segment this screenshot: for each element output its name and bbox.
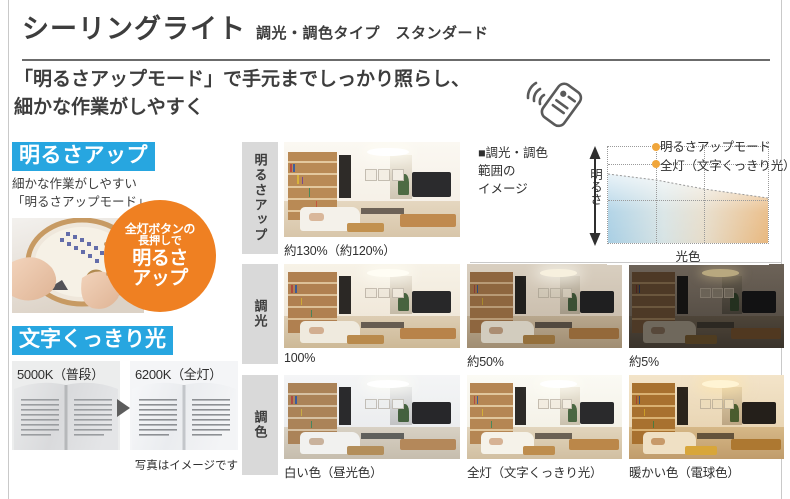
page-subtitle: 調光・調色タイプ スタンダード bbox=[256, 22, 489, 43]
caption-dim-5: 約5% bbox=[629, 351, 659, 370]
living-room-dim-100-photo bbox=[284, 264, 460, 348]
row-label-color-tuning: 調色 bbox=[242, 375, 278, 475]
embroidery-photo-wrap: 全灯ボタンの 長押しで 明るさ アップ bbox=[12, 218, 238, 313]
dimming-color-range-diagram: ■調光・調色 範囲の イメージ 明るさ bbox=[470, 130, 782, 260]
living-room-full-crisp-photo bbox=[467, 375, 622, 459]
circle-line-1: 全灯ボタンの bbox=[125, 223, 195, 236]
callout-full-light-crisp: 全灯（文字くっきり光） bbox=[660, 155, 790, 174]
brightness-up-caption-line-2: 「明るさアップモード」 bbox=[12, 194, 238, 212]
product-catalog-page: シーリングライト 調光・調色タイプ スタンダード 「明るさアップモード」で手元ま… bbox=[0, 0, 790, 499]
badge-crisp-text-light: 文字くっきり光 bbox=[12, 326, 173, 355]
lead-copy: 「明るさアップモード」で手元までしっかり照らし、 細かな作業がしやすく bbox=[14, 66, 484, 121]
left-feature-column: 明るさアップ 細かな作業がしやすい 「明るさアップモード」 bbox=[12, 142, 238, 487]
caption-full-crisp: 全灯（文字くっきり光） bbox=[467, 462, 602, 481]
page-left-border bbox=[0, 0, 9, 499]
row-label-brightness-up-text: 明るさアップ bbox=[254, 153, 267, 243]
circle-line-4: アップ bbox=[132, 269, 188, 289]
book-label-5000k: 5000K（普段） bbox=[17, 364, 104, 383]
diagram-title-line-3: イメージ bbox=[478, 180, 588, 198]
grid-line-h2 bbox=[608, 200, 768, 201]
diagram-title-line-1: ■調光・調色 bbox=[478, 144, 588, 162]
living-room-dim-50-photo bbox=[467, 264, 622, 348]
diagram-title-line-2: 範囲の bbox=[478, 162, 588, 180]
caption-daylight-white: 白い色（昼光色） bbox=[284, 462, 382, 481]
row-label-brightness-up: 明るさアップ bbox=[242, 142, 278, 254]
circle-line-2: 長押しで bbox=[138, 236, 182, 248]
living-room-daylight-white-photo bbox=[284, 375, 460, 459]
diagram-title: ■調光・調色 範囲の イメージ bbox=[478, 144, 588, 198]
row-label-dimming: 調光 bbox=[242, 264, 278, 364]
diagram-bottom-divider bbox=[470, 262, 782, 263]
book-comparison: 5000K（普段） bbox=[12, 361, 238, 450]
circle-line-3: 明るさ bbox=[132, 249, 188, 269]
badge-brightness-up: 明るさアップ bbox=[12, 142, 155, 171]
header-divider bbox=[22, 59, 770, 61]
callout-circle-full-light: 全灯ボタンの 長押しで 明るさ アップ bbox=[104, 200, 216, 312]
caption-dim-100: 100% bbox=[284, 351, 315, 365]
caption-warm-bulb: 暖かい色（電球色） bbox=[629, 462, 740, 481]
row-label-dimming-text: 調光 bbox=[254, 299, 267, 329]
callout-brightness-up-mode: 明るさアップモード bbox=[660, 136, 771, 155]
photo-disclaimer: 写真はイメージです bbox=[135, 457, 238, 473]
living-room-brightness-up-photo bbox=[284, 142, 460, 237]
caption-dim-50: 約50% bbox=[467, 351, 504, 370]
brightness-up-caption: 細かな作業がしやすい 「明るさアップモード」 bbox=[12, 176, 238, 212]
brightness-up-caption-line-1: 細かな作業がしやすい bbox=[12, 176, 238, 194]
remote-control-icon bbox=[518, 72, 588, 128]
page-title: シーリングライト bbox=[22, 16, 246, 43]
marker-brightness-up-mode bbox=[652, 143, 660, 151]
triangle-right-icon bbox=[117, 399, 130, 417]
page-header: シーリングライト 調光・調色タイプ スタンダード bbox=[22, 16, 768, 58]
row-label-color-tuning-text: 調色 bbox=[254, 410, 267, 440]
lead-line-1: 「明るさアップモード」で手元までしっかり照らし、 bbox=[14, 66, 484, 94]
caption-brightness-up: 約130%（約120%） bbox=[284, 240, 396, 259]
book-label-6200k: 6200K（全灯） bbox=[135, 364, 222, 383]
living-room-dim-5-photo bbox=[629, 264, 784, 348]
y-axis-label: 明るさ bbox=[586, 168, 605, 206]
lead-line-2: 細かな作業がしやすく bbox=[14, 94, 484, 122]
living-room-warm-bulb-photo bbox=[629, 375, 784, 459]
